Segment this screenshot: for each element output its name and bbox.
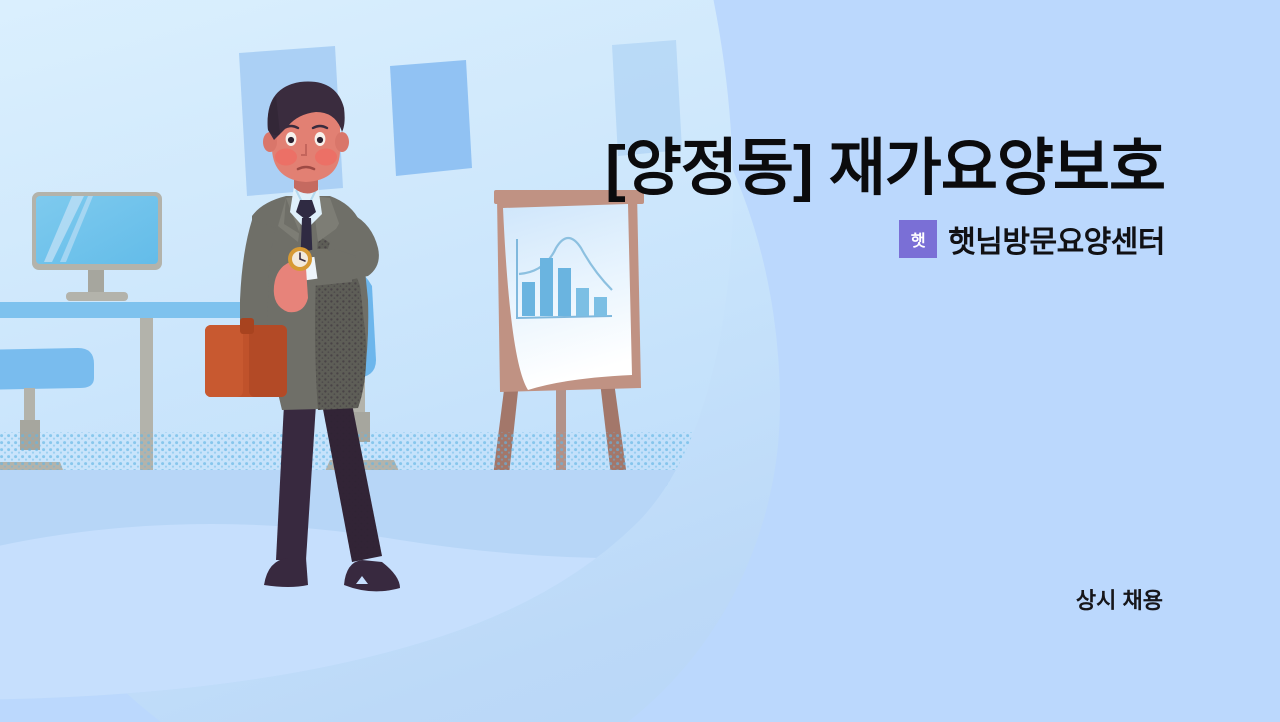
wall-poster-right [390, 60, 472, 176]
company-row: 햇 햇님방문요양센터 [465, 217, 1165, 261]
job-posting-banner: [양정동] 재가요양보호 햇 햇님방문요양센터 상시 채용 [0, 0, 1280, 722]
posting-text-block: [양정동] 재가요양보호 햇 햇님방문요양센터 [465, 136, 1165, 261]
businessman-office-illustration [0, 0, 760, 722]
hire-status-badge: 상시 채용 [1076, 583, 1163, 615]
company-initial-badge-icon: 햇 [899, 220, 937, 258]
briefcase [205, 318, 287, 397]
company-name: 햇님방문요양센터 [948, 217, 1165, 261]
page-title: [양정동] 재가요양보호 [465, 136, 1165, 203]
